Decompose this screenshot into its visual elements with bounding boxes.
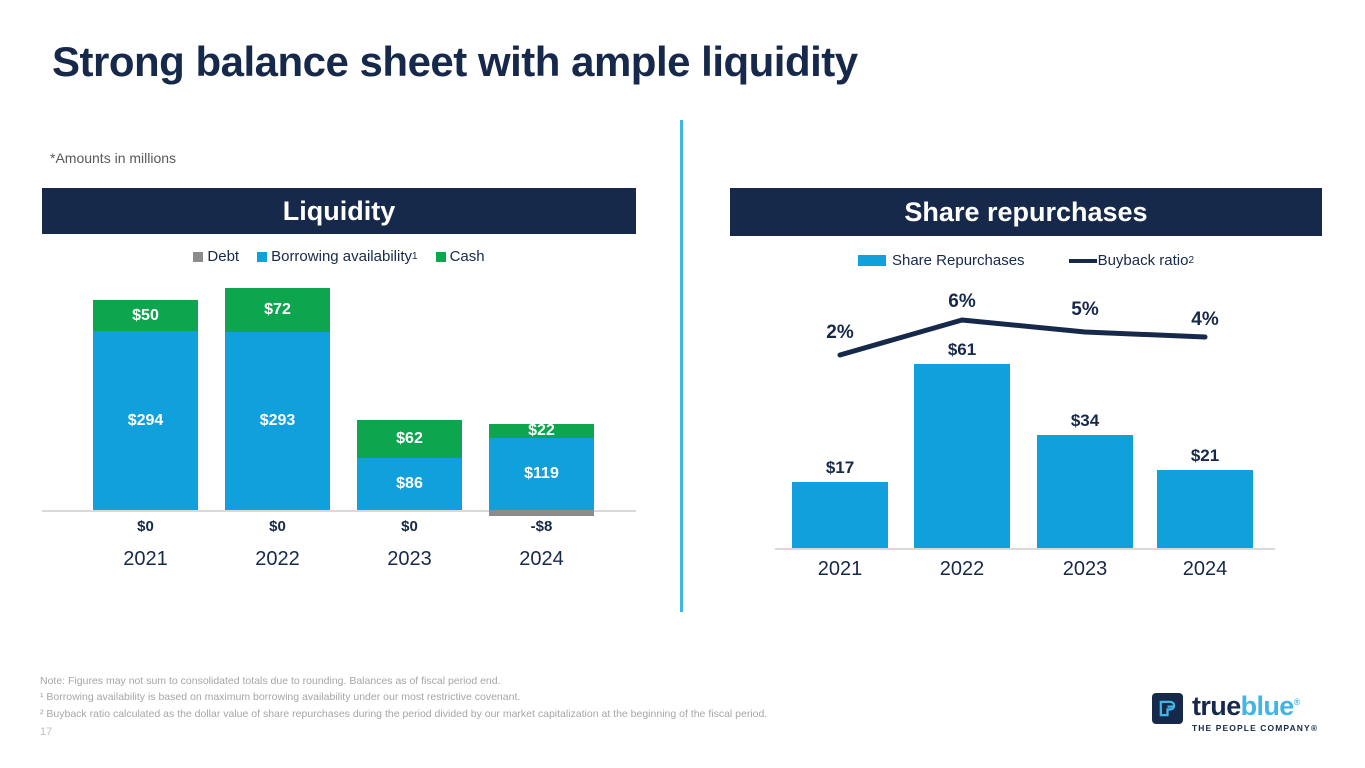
bar-segment-cash-2022: $72 <box>225 288 330 332</box>
vertical-divider <box>680 120 683 612</box>
liquidity-legend: Debt Borrowing availability1 Cash <box>42 248 636 265</box>
legend-swatch-share-repurchases <box>858 255 886 266</box>
bar-2024: $22 $119 <box>489 424 594 510</box>
ratio-label-2023: 5% <box>1037 299 1133 321</box>
debt-label-2021: $0 <box>93 518 198 535</box>
legend-label-debt: Debt <box>207 248 239 265</box>
bar-label-borrowing-2023: $86 <box>396 475 423 493</box>
share-repurchases-legend: Share Repurchases Buyback ratio2 <box>730 252 1322 269</box>
footnote-note: Note: Figures may not sum to consolidate… <box>40 673 767 689</box>
category-label-2023: 2023 <box>357 548 462 571</box>
footnote-2: ² Buyback ratio calculated as the dollar… <box>40 706 767 722</box>
legend-line-buyback-ratio <box>1069 259 1097 263</box>
ratio-label-2024: 4% <box>1157 309 1253 331</box>
bar-2021 <box>792 482 888 548</box>
bar-2024 <box>1157 470 1253 548</box>
share-repurchases-header: Share repurchases <box>730 188 1322 236</box>
legend-item-debt: Debt <box>193 248 239 265</box>
bar-2021: $50 $294 <box>93 300 198 510</box>
logo-tagline: THE PEOPLE COMPANY® <box>1192 723 1318 733</box>
bar-segment-cash-2021: $50 <box>93 300 198 331</box>
legend-item-cash: Cash <box>436 248 485 265</box>
logo-word: trueblue® <box>1192 693 1318 720</box>
legend-item-buyback-ratio: Buyback ratio2 <box>1069 252 1194 269</box>
trueblue-logo: trueblue® THE PEOPLE COMPANY® <box>1152 693 1318 733</box>
bar-label-2024: $21 <box>1157 446 1253 466</box>
bar-label-cash-2023: $62 <box>396 430 423 448</box>
slide: Strong balance sheet with ample liquidit… <box>0 0 1365 768</box>
trueblue-logo-mark-icon <box>1152 693 1183 724</box>
ratio-label-2021: 2% <box>792 322 888 344</box>
ratio-label-2022: 6% <box>914 291 1010 313</box>
bar-label-borrowing-2021: $294 <box>128 412 164 430</box>
bar-segment-borrowing-2023: $86 <box>357 458 462 510</box>
bar-label-borrowing-2022: $293 <box>260 412 296 430</box>
bar-segment-borrowing-2022: $293 <box>225 332 330 510</box>
trueblue-wordmark: trueblue® THE PEOPLE COMPANY® <box>1192 693 1318 733</box>
debt-label-2023: $0 <box>357 518 462 535</box>
bar-label-2021: $17 <box>792 458 888 478</box>
footnotes: Note: Figures may not sum to consolidate… <box>40 673 767 722</box>
category-label-2024: 2024 <box>489 548 594 571</box>
page-title: Strong balance sheet with ample liquidit… <box>52 38 858 86</box>
bar-segment-cash-2023: $62 <box>357 420 462 458</box>
amounts-note: *Amounts in millions <box>50 150 176 166</box>
logo-registered-mark: ® <box>1294 697 1300 707</box>
debt-label-2022: $0 <box>225 518 330 535</box>
bar-segment-borrowing-2024: $119 <box>489 438 594 510</box>
logo-glyph-icon <box>1158 699 1177 718</box>
category-label-2022: 2022 <box>225 548 330 571</box>
share-repurchases-panel: Share repurchases Share Repurchases Buyb… <box>730 188 1322 269</box>
footnote-1: ¹ Borrowing availability is based on max… <box>40 689 767 705</box>
legend-swatch-borrowing <box>257 252 267 262</box>
logo-word-true: true <box>1192 691 1241 721</box>
legend-item-borrowing: Borrowing availability1 <box>257 248 417 265</box>
bar-label-2023: $34 <box>1037 411 1133 431</box>
bar-2022: $72 $293 <box>225 288 330 510</box>
liquidity-chart: $50 $294 $72 $293 $62 $86 <box>42 300 636 560</box>
bar-label-2022: $61 <box>914 340 1010 360</box>
bar-2022 <box>914 364 1010 548</box>
bar-label-cash-2022: $72 <box>264 301 291 319</box>
category-label-2024: 2024 <box>1157 558 1253 581</box>
category-label-2023: 2023 <box>1037 558 1133 581</box>
bar-segment-debt-2024 <box>489 510 594 516</box>
legend-swatch-cash <box>436 252 446 262</box>
liquidity-panel: Liquidity Debt Borrowing availability1 C… <box>42 188 636 265</box>
legend-item-share-repurchases: Share Repurchases <box>858 252 1025 269</box>
page-number: 17 <box>40 726 52 738</box>
logo-word-blue: blue <box>1241 691 1294 721</box>
bar-label-cash-2021: $50 <box>132 307 159 325</box>
liquidity-header: Liquidity <box>42 188 636 234</box>
bar-segment-borrowing-2021: $294 <box>93 331 198 510</box>
legend-label-borrowing: Borrowing availability <box>271 248 412 265</box>
legend-label-buyback-ratio: Buyback ratio <box>1098 252 1189 269</box>
category-label-2022: 2022 <box>914 558 1010 581</box>
bar-label-borrowing-2024: $119 <box>524 465 559 483</box>
category-label-2021: 2021 <box>792 558 888 581</box>
debt-label-2024: -$8 <box>489 518 594 535</box>
bar-2023 <box>1037 435 1133 548</box>
bar-2023: $62 $86 <box>357 420 462 510</box>
legend-label-cash: Cash <box>450 248 485 265</box>
legend-label-share-repurchases: Share Repurchases <box>892 252 1025 269</box>
share-repurchases-chart: 2% 6% 5% 4% $17 $61 $34 $21 2021 2022 20… <box>730 296 1322 561</box>
legend-swatch-debt <box>193 252 203 262</box>
category-label-2021: 2021 <box>93 548 198 571</box>
bar-segment-cash-2024: $22 <box>489 424 594 438</box>
